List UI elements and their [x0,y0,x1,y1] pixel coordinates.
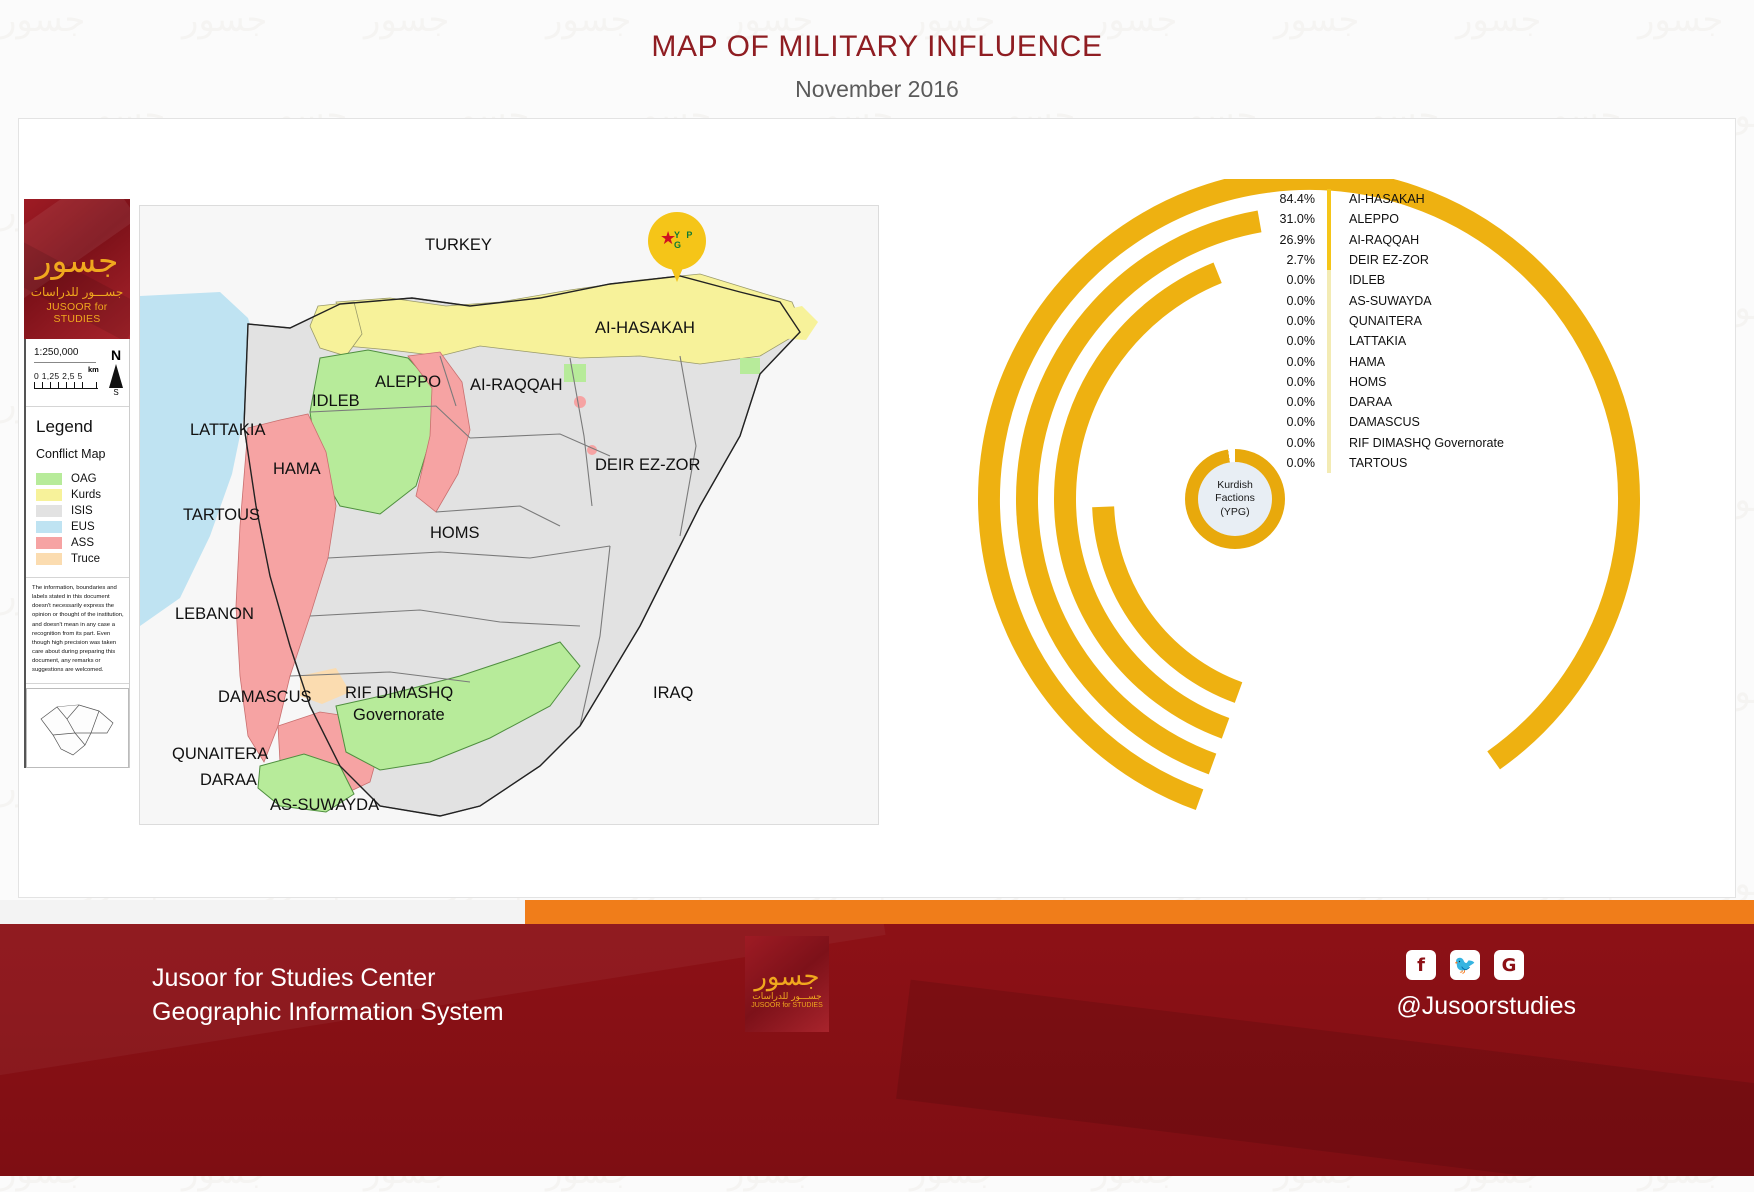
chart-legend-label: RIF DIMASHQ Governorate [1349,436,1504,450]
googleplus-icon[interactable]: G [1494,950,1524,980]
chart-legend-swatch [1327,250,1331,270]
map-label-turkey: TURKEY [425,236,492,255]
chart-legend-row[interactable]: 0.0%DARAA [1259,392,1709,412]
legend-label: ISIS [71,505,93,517]
map-label-homs: HOMS [430,524,480,543]
map-label-governorate: Governorate [353,706,445,725]
map-label-damascus: DAMASCUS [218,688,312,707]
chart-legend-row[interactable]: 84.4%AI-HASAKAH [1259,189,1709,209]
donut-center-label: Kurdish Factions (YPG) [1198,462,1272,536]
map-label-rif-dimashq: RIF DIMASHQ [345,684,453,703]
chart-legend-row[interactable]: 0.0%IDLEB [1259,270,1709,290]
chart-legend-value: 31.0% [1259,212,1315,226]
social-handle: @Jusoorstudies [1396,992,1576,1021]
chart-legend-row[interactable]: 0.0%TARTOUS [1259,453,1709,473]
north-arrow-icon: N S [109,347,123,397]
legend-label: Kurds [71,489,101,501]
chart-legend-swatch [1327,372,1331,392]
chart-legend-label: LATTAKIA [1349,334,1406,348]
chart-legend-row[interactable]: 0.0%QUNAITERA [1259,311,1709,331]
footer-logo-sub-ar: جســـور للدراسات [745,992,829,1002]
legend-panel: Legend Conflict Map OAGKurdsISISEUSASSTr… [26,407,129,578]
scale-bar-widget: 1:250,000 0 1,25 2,5 5 km N S [26,339,129,407]
legend-item-isis[interactable]: ISIS [36,503,121,518]
chart-legend: 84.4%AI-HASAKAH31.0%ALEPPO26.9%AI-RAQQAH… [1259,189,1709,473]
footer-line-1: Jusoor for Studies Center [152,962,504,996]
map-label-hama: HAMA [273,460,321,479]
legend-item-kurds[interactable]: Kurds [36,487,121,502]
south-letter: S [109,388,123,397]
legend-subtitle: Conflict Map [36,447,121,461]
ypg-pin-label: Y P G [674,230,706,250]
legend-label: Truce [71,553,100,565]
center-donut: Kurdish Factions (YPG) [1185,449,1285,549]
legend-item-eus[interactable]: EUS [36,519,121,534]
map-label-iraq: IRAQ [653,684,693,703]
chart-legend-value: 0.0% [1259,375,1315,389]
chart-legend-value: 0.0% [1259,355,1315,369]
chart-legend-swatch [1327,392,1331,412]
map-label-tartous: TARTOUS [183,506,260,525]
footer-line-2: Geographic Information System [152,996,504,1030]
chart-legend-swatch [1327,351,1331,371]
legend-item-oag[interactable]: OAG [36,471,121,486]
chart-legend-value: 26.9% [1259,233,1315,247]
conflict-map[interactable]: ★ Y P G TURKEYAI-HASAKAHALEPPOAI-RAQQAHI… [139,205,879,825]
social-links: f🐦G [1406,950,1524,980]
scale-ruler [34,383,98,389]
chart-legend-swatch [1327,230,1331,250]
chart-legend-label: ALEPPO [1349,212,1399,226]
legend-items-list: OAGKurdsISISEUSASSTruce [36,471,121,566]
chart-legend-value: 0.0% [1259,415,1315,429]
legend-item-truce[interactable]: Truce [36,551,121,566]
legend-swatch [36,553,62,565]
locator-inset-map [26,688,129,768]
chart-legend-label: AI-RAQQAH [1349,233,1419,247]
footer-logo: جسور جســـور للدراسات JUSOOR for STUDIES [745,936,829,1032]
chart-legend-swatch [1327,453,1331,473]
chart-legend-value: 0.0% [1259,294,1315,308]
map-label-lattakia: LATTAKIA [190,421,266,440]
legend-title: Legend [36,417,121,437]
map-label-as-suwayda: AS-SUWAYDA [270,796,379,815]
chart-legend-label: DARAA [1349,395,1392,409]
chart-legend-value: 0.0% [1259,314,1315,328]
facebook-icon[interactable]: f [1406,950,1436,980]
chart-legend-value: 0.0% [1259,334,1315,348]
map-tools-panel: 1:250,000 0 1,25 2,5 5 km N S Legend Con… [24,339,130,768]
chart-legend-label: AS-SUWAYDA [1349,294,1432,308]
center-line-2: Factions [1215,492,1255,505]
logo-arabic-subtitle: جســـور للدراسات [24,285,130,299]
map-label-daraa: DARAA [200,771,257,790]
legend-swatch [36,489,62,501]
map-label-deir-ez-zor: DEIR EZ-ZOR [595,456,700,475]
chart-legend-label: HOMS [1349,375,1387,389]
chart-legend-label: DAMASCUS [1349,415,1420,429]
chart-legend-value: 0.0% [1259,436,1315,450]
legend-label: ASS [71,537,94,549]
map-disclaimer: The information, boundaries and labels s… [26,578,129,684]
chart-legend-value: 0.0% [1259,273,1315,287]
chart-legend-row[interactable]: 0.0%DAMASCUS [1259,412,1709,432]
legend-swatch [36,473,62,485]
footer-org-name: Jusoor for Studies Center Geographic Inf… [152,962,504,1030]
chart-legend-row[interactable]: 0.0%HOMS [1259,372,1709,392]
chart-legend-label: DEIR EZ-ZOR [1349,253,1429,267]
center-line-1: Kurdish [1217,479,1253,492]
page-footer: Jusoor for Studies Center Geographic Inf… [0,924,1754,1176]
legend-swatch [36,521,62,533]
legend-label: OAG [71,473,97,485]
chart-legend-label: QUNAITERA [1349,314,1422,328]
chart-legend-label: HAMA [1349,355,1385,369]
main-canvas: جسور جســـور للدراسات JUSOOR for STUDIES… [18,118,1736,898]
chart-legend-swatch [1327,331,1331,351]
chart-legend-label: TARTOUS [1349,456,1407,470]
map-label-ai-hasakah: AI-HASAKAH [595,319,695,338]
legend-swatch [36,505,62,517]
chart-legend-row[interactable]: 2.7%DEIR EZ-ZOR [1259,250,1709,270]
footer-logo-arabic: جسور [745,962,829,992]
chart-legend-value: 84.4% [1259,192,1315,206]
influence-chart: 84.4%AI-HASAKAH31.0%ALEPPO26.9%AI-RAQQAH… [889,179,1719,879]
chart-legend-swatch [1327,311,1331,331]
map-label-ai-raqqah: AI-RAQQAH [470,376,563,395]
chart-legend-swatch [1327,412,1331,432]
chart-legend-row[interactable]: 31.0%ALEPPO [1259,209,1709,229]
chart-legend-swatch [1327,270,1331,290]
map-label-lebanon: LEBANON [175,605,254,624]
jusoor-logo: جسور جســـور للدراسات JUSOOR for STUDIES [24,199,130,339]
chart-legend-row[interactable]: 0.0%HAMA [1259,351,1709,371]
map-label-idleb: IDLEB [312,392,360,411]
twitter-icon[interactable]: 🐦 [1450,950,1480,980]
legend-label: EUS [71,521,95,533]
logo-english-subtitle: JUSOOR for STUDIES [24,301,130,325]
scale-unit: km [88,365,99,374]
center-line-3: (YPG) [1220,506,1249,519]
footer-logo-sub-en: JUSOOR for STUDIES [745,1002,829,1009]
page-header: MAP OF MILITARY INFLUENCE November 2016 [0,0,1754,130]
chart-legend-swatch [1327,209,1331,229]
legend-swatch [36,537,62,549]
chart-legend-label: IDLEB [1349,273,1385,287]
map-label-qunaitera: QUNAITERA [172,745,268,764]
locator-syria-shape [27,689,131,767]
chart-legend-row[interactable]: 0.0%AS-SUWAYDA [1259,290,1709,310]
chart-legend-swatch [1327,290,1331,310]
chart-legend-value: 0.0% [1259,395,1315,409]
chart-legend-row[interactable]: 26.9%AI-RAQQAH [1259,230,1709,250]
chart-legend-row[interactable]: 0.0%LATTAKIA [1259,331,1709,351]
ypg-map-pin[interactable]: ★ Y P G [648,212,706,286]
chart-legend-swatch [1327,189,1331,209]
map-label-aleppo: ALEPPO [375,373,441,392]
logo-arabic-mark: جسور [24,241,130,280]
page-subtitle-date: November 2016 [0,76,1754,103]
legend-item-ass[interactable]: ASS [36,535,121,550]
map-info-column: جسور جســـور للدراسات JUSOOR for STUDIES… [24,199,136,768]
chart-legend-row[interactable]: 0.0%RIF DIMASHQ Governorate [1259,433,1709,453]
chart-legend-value: 2.7% [1259,253,1315,267]
chart-legend-label: AI-HASAKAH [1349,192,1425,206]
chart-legend-swatch [1327,433,1331,453]
north-letter: N [109,347,123,363]
page-title: MAP OF MILITARY INFLUENCE [0,30,1754,64]
